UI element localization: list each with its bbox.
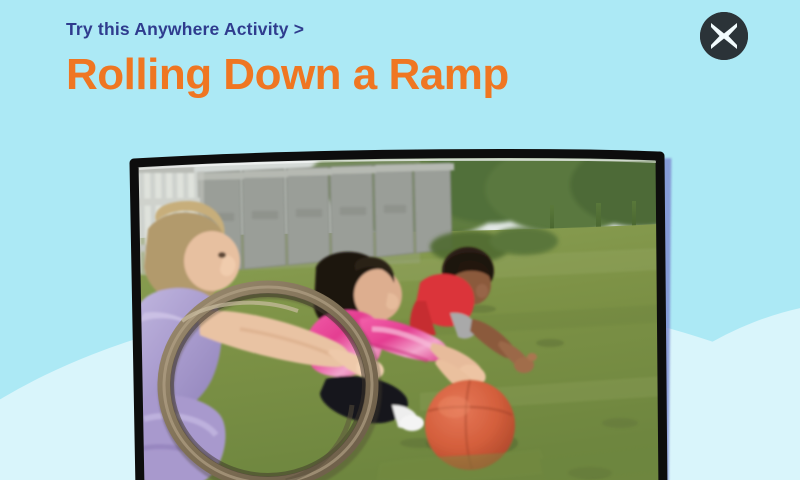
close-x-icon <box>700 12 748 60</box>
photo-frame <box>120 143 680 480</box>
activity-photo <box>120 143 680 480</box>
activity-screen: Try this Anywhere Activity > Rolling Dow… <box>0 0 800 480</box>
anywhere-activity-link[interactable]: Try this Anywhere Activity > <box>66 19 304 40</box>
page-title: Rolling Down a Ramp <box>66 50 509 100</box>
close-button[interactable] <box>700 12 748 60</box>
